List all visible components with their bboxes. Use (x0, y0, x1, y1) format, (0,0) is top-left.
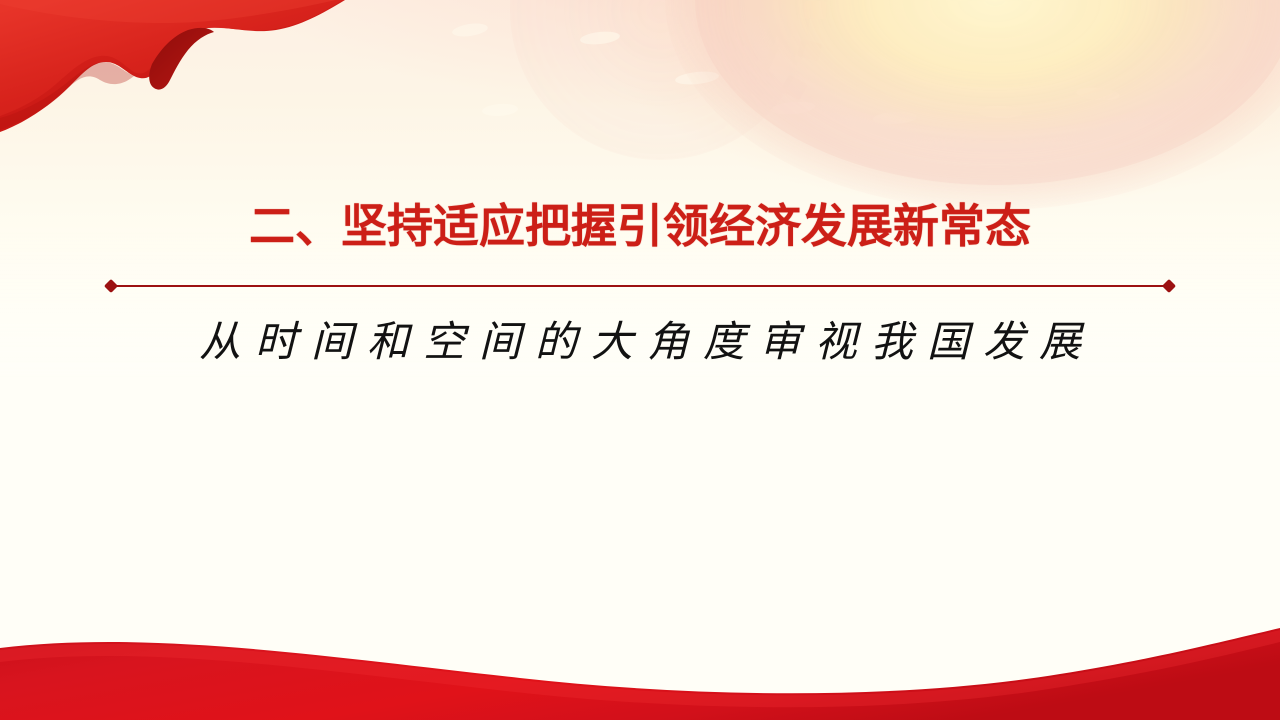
page-subtitle: 从时间和空间的大角度审视我国发展 (0, 314, 1280, 372)
divider-line (112, 285, 1168, 287)
slide-content: 二、坚持适应把握引领经济发展新常态 从时间和空间的大角度审视我国发展 (0, 196, 1280, 372)
decorative-divider (106, 280, 1174, 292)
divider-diamond-right-icon (1162, 279, 1176, 293)
slide-canvas: 二、坚持适应把握引领经济发展新常态 从时间和空间的大角度审视我国发展 (0, 0, 1280, 720)
page-title: 二、坚持适应把握引领经济发展新常态 (0, 196, 1280, 256)
